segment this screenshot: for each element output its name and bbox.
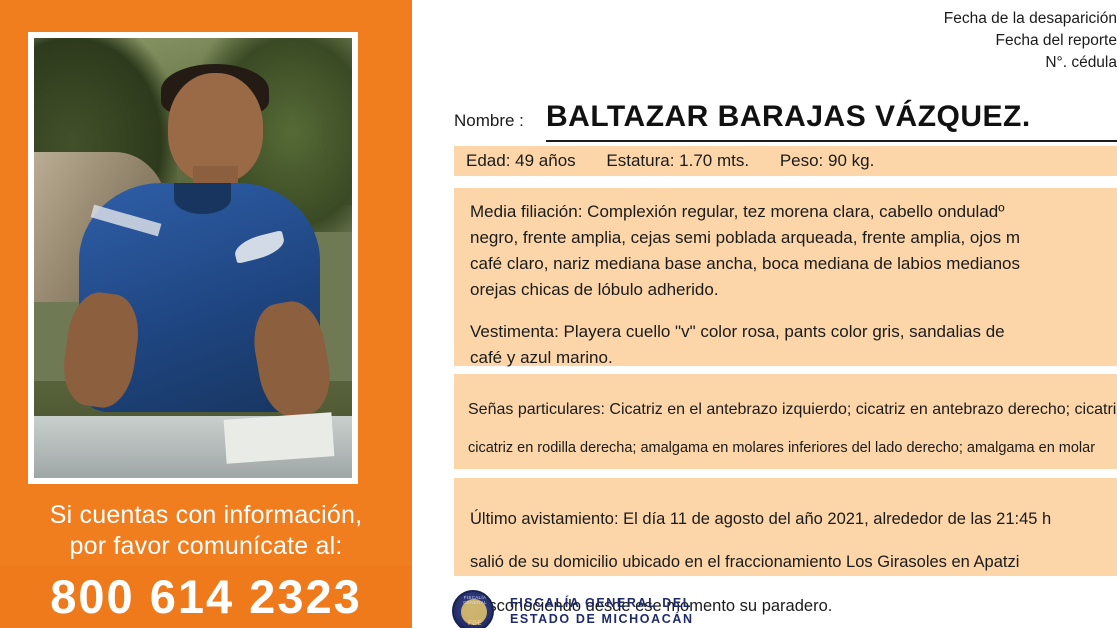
name-row: Nombre : BALTAZAR BARAJAS VÁZQUEZ. — [454, 100, 1117, 142]
meta-case-number-label: N°. cédula — [417, 52, 1117, 74]
height-value: Estatura: 1.70 mts. — [606, 151, 749, 170]
filiacion-line-3: café claro, nariz mediana base ancha, bo… — [470, 251, 1117, 277]
name-value: BALTAZAR BARAJAS VÁZQUEZ. — [546, 100, 1031, 134]
distinguishing-marks-box: Señas particulares: Cicatriz en el anteb… — [454, 374, 1117, 469]
photo-frame — [28, 32, 358, 484]
description-box: Media filiación: Complexión regular, tez… — [454, 188, 1117, 366]
call-to-action: Si cuentas con información, por favor co… — [0, 500, 412, 562]
footer: FISCALÍA GENERAL FGE FISCALÍA GENERAL DE… — [452, 590, 752, 628]
marks-line-1: Señas particulares: Cicatriz en el anteb… — [468, 399, 1117, 421]
vestimenta-line-2: café y azul marino. — [470, 345, 1117, 371]
filiacion-line-4: orejas chicas de lóbulo adherido. — [470, 277, 1117, 303]
phone-number: 800 614 2323 — [0, 569, 412, 624]
left-orange-panel: Si cuentas con información, por favor co… — [0, 0, 412, 628]
meta-block: Fecha de la desaparición Fecha del repor… — [417, 8, 1117, 74]
age-value: Edad: 49 años — [466, 151, 576, 170]
fiscalia-seal-icon: FISCALÍA GENERAL FGE — [452, 590, 494, 628]
missing-person-poster: Si cuentas con información, por favor co… — [0, 0, 1117, 628]
photo-person-collar — [174, 183, 231, 214]
seal-bottom-text: FGE — [454, 621, 496, 627]
filiacion-line-2: negro, frente amplia, cejas semi poblada… — [470, 225, 1117, 251]
vestimenta-line-1: Vestimenta: Playera cuello "v" color ros… — [470, 319, 1117, 345]
right-content-panel: Fecha de la desaparición Fecha del repor… — [412, 0, 1117, 628]
last-sighting-line-1: Último avistamiento: El día 11 de agosto… — [470, 506, 1117, 533]
call-to-action-line-2: por favor comunícate al: — [0, 531, 412, 562]
meta-report-date-label: Fecha del reporte — [417, 30, 1117, 52]
last-sighting-box: Último avistamiento: El día 11 de agosto… — [454, 478, 1117, 576]
meta-disappearance-date-label: Fecha de la desaparición — [417, 8, 1117, 30]
name-underline — [546, 140, 1117, 142]
seal-top-text: FISCALÍA GENERAL — [454, 595, 496, 605]
description-gap — [470, 303, 1117, 319]
measures-box: Edad: 49 años Estatura: 1.70 mts. Peso: … — [454, 146, 1117, 176]
organization-name: FISCALÍA GENERAL DEL ESTADO DE MICHOACÁN — [510, 595, 694, 627]
last-sighting-line-2: salió de su domicilio ubicado en el frac… — [470, 549, 1117, 576]
missing-person-photo — [34, 38, 352, 478]
filiacion-line-1: Media filiación: Complexión regular, tez… — [470, 199, 1117, 225]
marks-line-2: cicatriz en rodilla derecha; amalgama en… — [468, 437, 1117, 459]
weight-value: Peso: 90 kg. — [780, 151, 875, 170]
organization-line-2: ESTADO DE MICHOACÁN — [510, 611, 694, 627]
call-to-action-line-1: Si cuentas con información, — [0, 500, 412, 531]
name-label: Nombre : — [454, 111, 524, 131]
organization-line-1: FISCALÍA GENERAL DEL — [510, 595, 694, 611]
photo-paper — [223, 413, 334, 464]
